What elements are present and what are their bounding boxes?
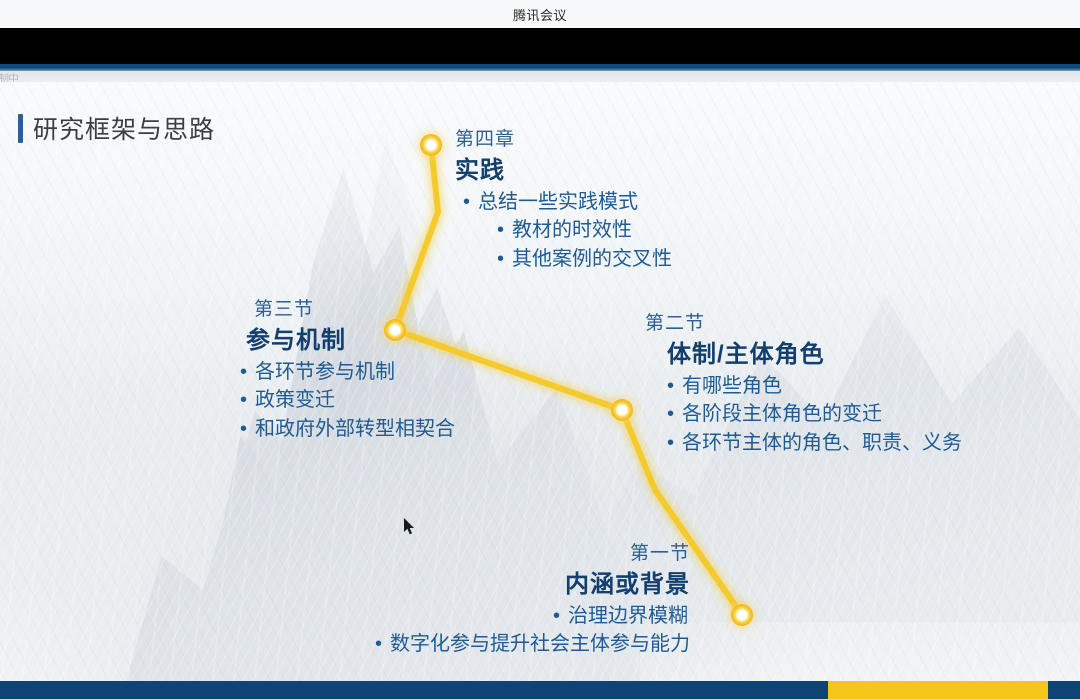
list-item: • 各环节主体的角色、职责、义务	[645, 429, 962, 457]
list-item-label: 和政府外部转型相契合	[255, 415, 455, 443]
app-window-title: 腾讯会议	[513, 5, 567, 24]
footer-accent-bar	[828, 681, 1048, 699]
route-node-section-two	[611, 399, 633, 421]
section-block-section-three: 第三节 参与机制 • 各环节参与机制 • 政策变迁 • 和政府外部转型相契合	[240, 298, 455, 443]
section-block-section-two: 第二节 体制/主体角色 • 有哪些角色 • 各阶段主体角色的变迁 • 各环节主体…	[645, 312, 962, 457]
list-item: • 数字化参与提升社会主体参与能力	[290, 630, 690, 658]
bullet-dot-icon: •	[667, 376, 674, 396]
bullet-dot-icon: •	[240, 390, 247, 410]
app-titlebar: 腾讯会议	[0, 0, 1080, 28]
section-bullet-list: • 有哪些角色 • 各阶段主体角色的变迁 • 各环节主体的角色、职责、义务	[645, 372, 962, 457]
bullet-dot-icon: •	[497, 220, 504, 240]
list-item-label: 各阶段主体角色的变迁	[682, 400, 882, 428]
screen: 腾讯会议 制中 研究框架与思路	[0, 0, 1080, 699]
list-item: • 政策变迁	[240, 386, 455, 414]
video-letterbox-band	[0, 28, 1080, 64]
list-item-label: 治理边界模糊	[568, 602, 688, 630]
page-title: 研究框架与思路	[18, 110, 215, 146]
section-label: 第一节	[290, 542, 690, 566]
section-block-chapter-four: 第四章 实践 • 总结一些实践模式 • 教材的时效性 • 其他案例的交叉性	[455, 128, 672, 273]
section-title: 体制/主体角色	[645, 339, 962, 370]
bullet-dot-icon: •	[240, 362, 247, 382]
bullet-dot-icon: •	[553, 606, 560, 626]
list-item: • 教材的时效性	[455, 216, 672, 244]
section-label: 第四章	[455, 128, 672, 152]
section-block-section-one: 第一节 内涵或背景 • 治理边界模糊 • 数字化参与提升社会主体参与能力	[290, 542, 690, 659]
mouse-cursor-icon	[404, 518, 416, 536]
shared-screen-border	[0, 64, 1080, 71]
page-title-text: 研究框架与思路	[33, 110, 215, 146]
list-item: • 总结一些实践模式	[455, 188, 672, 216]
list-item: • 治理边界模糊	[290, 602, 690, 630]
section-title: 参与机制	[240, 325, 455, 356]
section-bullet-list: • 治理边界模糊 • 数字化参与提升社会主体参与能力	[290, 602, 690, 659]
list-item-label: 总结一些实践模式	[478, 188, 638, 216]
bullet-dot-icon: •	[463, 192, 470, 212]
bullet-dot-icon: •	[240, 419, 247, 439]
list-item-label: 各环节参与机制	[255, 358, 395, 386]
footer-endcap	[1048, 681, 1080, 699]
list-item-label: 其他案例的交叉性	[512, 245, 672, 273]
list-item: • 各阶段主体角色的变迁	[645, 400, 962, 428]
section-title: 内涵或背景	[290, 569, 690, 600]
section-label: 第二节	[645, 312, 962, 336]
shared-screen-edge-strip	[0, 71, 1080, 82]
list-item: • 有哪些角色	[645, 372, 962, 400]
title-accent-bar	[18, 114, 23, 143]
list-item-label: 各环节主体的角色、职责、义务	[682, 429, 962, 457]
slide-canvas: 研究框架与思路	[0, 82, 1080, 699]
section-bullet-list: • 总结一些实践模式 • 教材的时效性 • 其他案例的交叉性	[455, 188, 672, 273]
list-item-label: 教材的时效性	[512, 216, 632, 244]
list-item-label: 政策变迁	[255, 386, 335, 414]
section-bullet-list: • 各环节参与机制 • 政策变迁 • 和政府外部转型相契合	[240, 358, 455, 443]
list-item-label: 数字化参与提升社会主体参与能力	[390, 630, 690, 658]
list-item: • 各环节参与机制	[240, 358, 455, 386]
section-title: 实践	[455, 155, 672, 186]
bullet-dot-icon: •	[375, 634, 382, 654]
section-label: 第三节	[240, 298, 455, 322]
bullet-dot-icon: •	[667, 433, 674, 453]
list-item: • 其他案例的交叉性	[455, 245, 672, 273]
list-item: • 和政府外部转型相契合	[240, 415, 455, 443]
bullet-dot-icon: •	[667, 404, 674, 424]
bullet-dot-icon: •	[497, 249, 504, 269]
list-item-label: 有哪些角色	[682, 372, 782, 400]
